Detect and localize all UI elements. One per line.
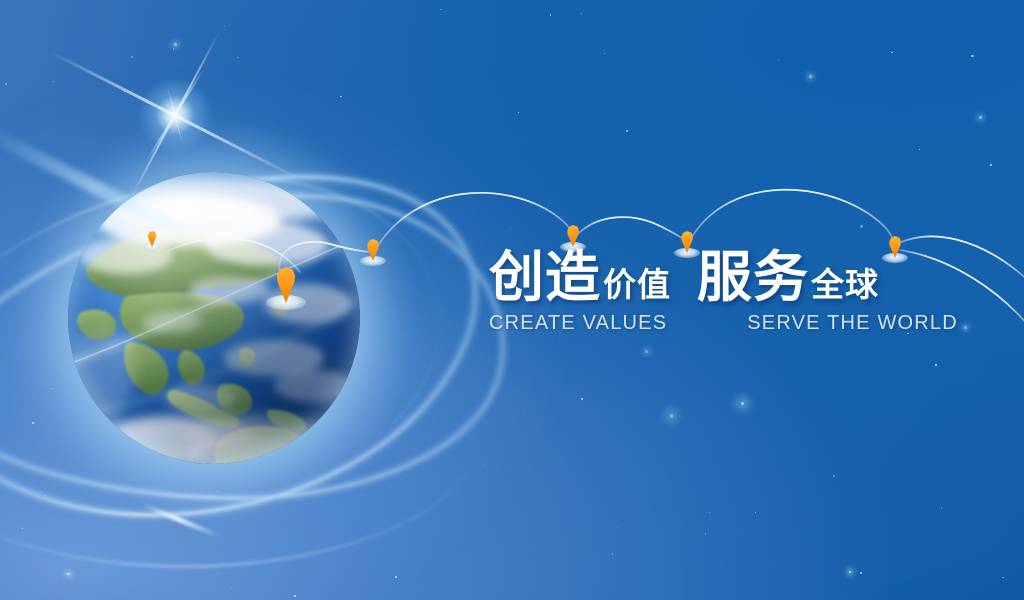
background-vignette <box>0 0 1024 600</box>
banner-canvas: 创造 价值 服务 全球 CREATE VALUES SERVE THE WORL… <box>0 0 1024 600</box>
